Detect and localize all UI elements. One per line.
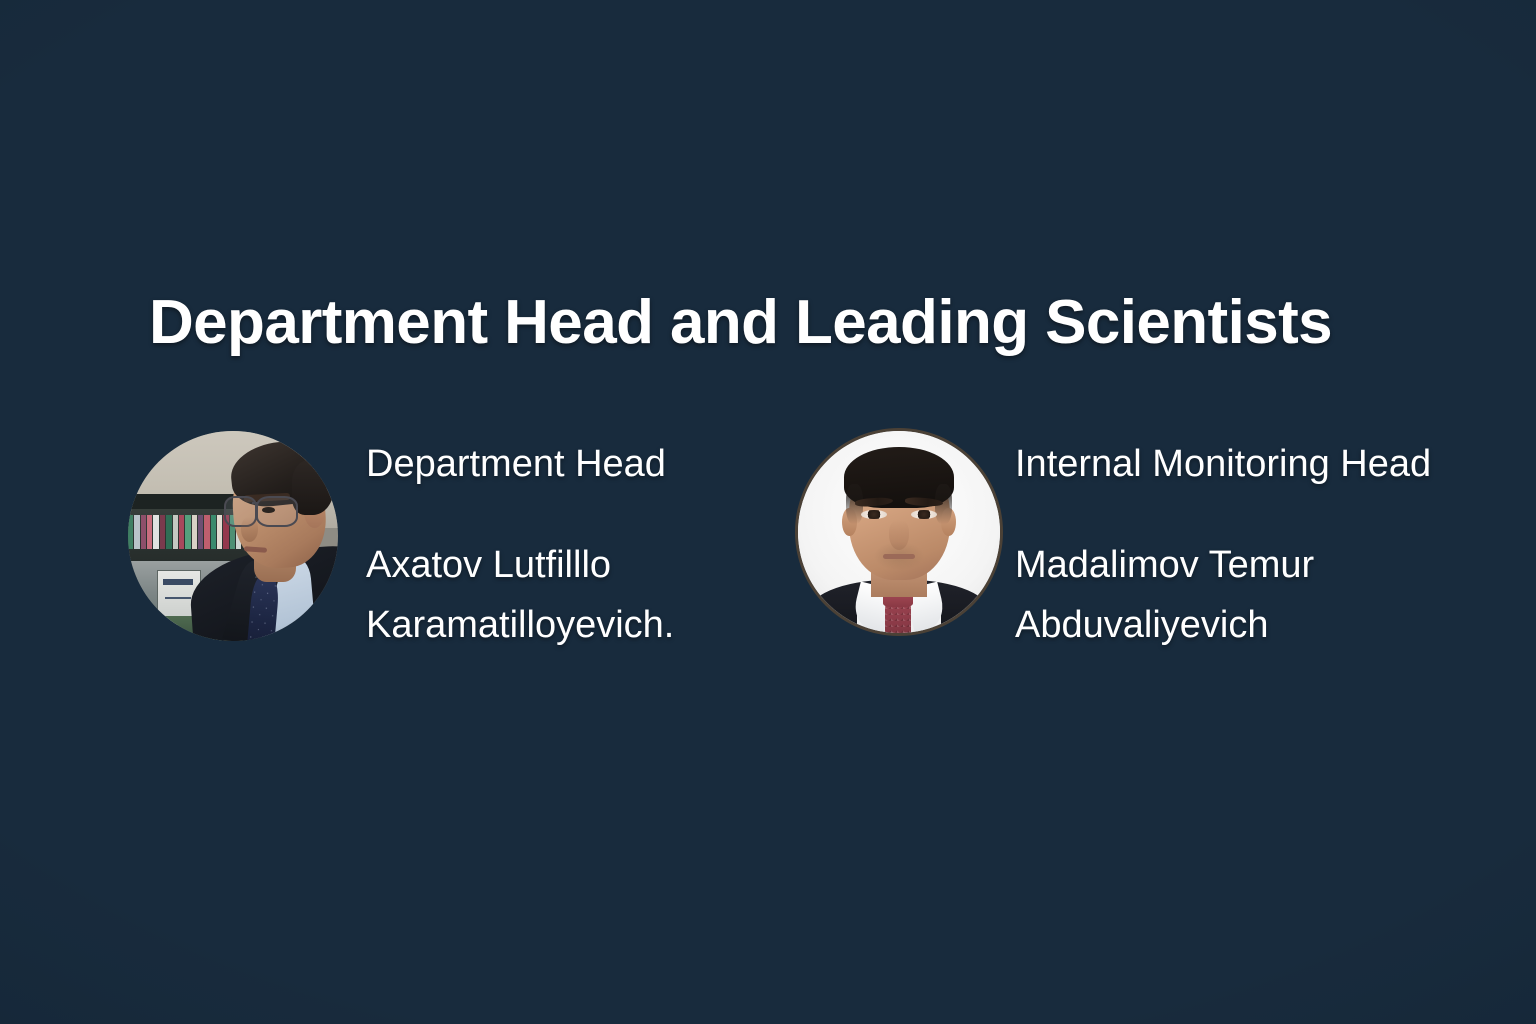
person-name: Axatov Lutfilllo Karamatilloyevich. — [366, 535, 674, 655]
portrait-photo-axatov — [128, 431, 338, 641]
person-name: Madalimov Temur Abduvaliyevich — [1015, 535, 1431, 655]
person-name-line2: Karamatilloyevich. — [366, 595, 674, 655]
avatar-department-head — [128, 431, 338, 641]
presentation-slide: Department Head and Leading Scientists — [0, 0, 1536, 1024]
person-name-line1: Madalimov Temur — [1015, 535, 1431, 595]
person-role: Internal Monitoring Head — [1015, 441, 1431, 487]
person-card-internal-monitoring-head: Internal Monitoring Head Madalimov Temur… — [798, 431, 1431, 655]
person-role: Department Head — [366, 441, 674, 487]
person-text-internal-monitoring-head: Internal Monitoring Head Madalimov Temur… — [1015, 431, 1431, 655]
avatar-internal-monitoring-head — [798, 431, 1000, 633]
person-text-department-head: Department Head Axatov Lutfilllo Karamat… — [366, 431, 674, 655]
person-card-department-head: Department Head Axatov Lutfilllo Karamat… — [128, 431, 674, 655]
page-title: Department Head and Leading Scientists — [149, 286, 1389, 360]
portrait-photo-madalimov — [798, 431, 1000, 633]
person-name-line2: Abduvaliyevich — [1015, 595, 1431, 655]
person-name-line1: Axatov Lutfilllo — [366, 535, 674, 595]
